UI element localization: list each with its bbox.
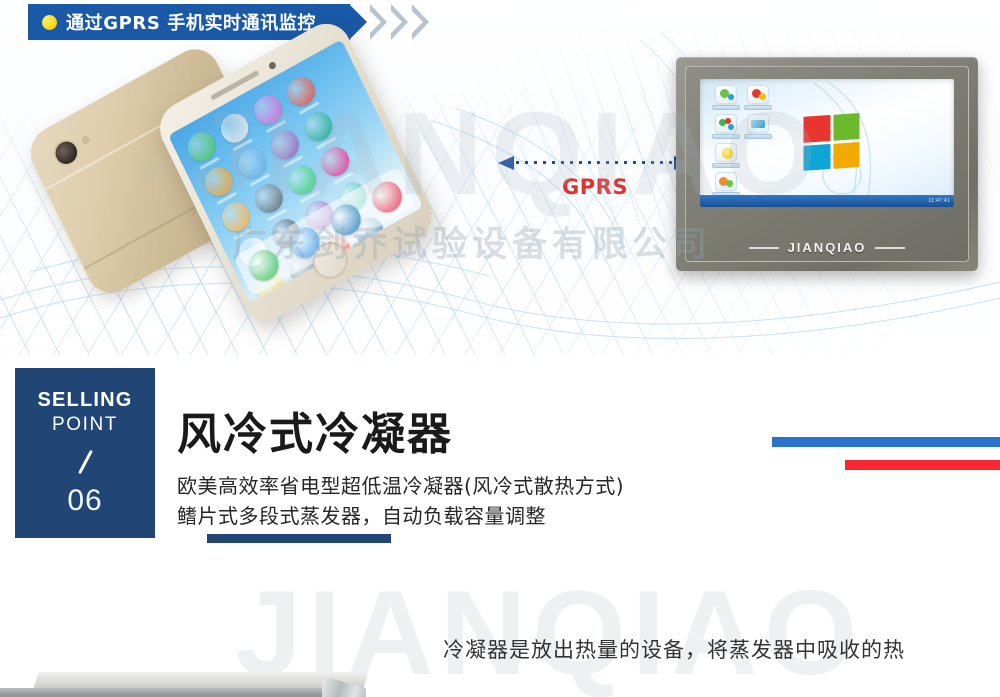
hmi-icon-4: [747, 114, 769, 133]
selling-label: SELLING: [37, 389, 132, 412]
hmi-clock: 11:47:41: [929, 198, 951, 204]
hmi-label-plate: [744, 105, 772, 110]
yellow-dot-icon: [42, 15, 57, 30]
hmi-app-6[interactable]: [711, 172, 741, 197]
condenser-unit-photo: [0, 672, 372, 697]
hmi-app-icons: [711, 85, 775, 201]
phone-app-icon-11[interactable]: [284, 161, 321, 200]
hmi-icon-1: [715, 85, 737, 104]
hmi-bezel: 11:47:41 JIANQIAO: [685, 66, 969, 262]
gprs-label: GPRS: [540, 175, 650, 199]
flash-icon: [80, 134, 91, 145]
hmi-icon-row: [711, 85, 775, 110]
dotted-connection-line: [516, 161, 672, 164]
header-banner-label: 通过GPRS 手机实时通讯监控: [66, 9, 316, 35]
header-banner: 通过GPRS 手机实时通讯监控: [28, 4, 433, 40]
hmi-taskbar: 11:47:41: [700, 195, 954, 207]
camera-icon: [49, 135, 83, 171]
windows-logo-icon: [803, 113, 859, 171]
phone-dock-icon-1[interactable]: [244, 245, 283, 287]
phone-app-icon-10[interactable]: [251, 179, 288, 218]
hmi-label-plate: [712, 163, 740, 168]
chevron-right-icon: [391, 4, 408, 40]
point-label: POINT: [52, 414, 118, 436]
product-detail-page: 通过GPRS 手机实时通讯监控 iPhone: [0, 0, 1000, 697]
phone-app-icon-2[interactable]: [216, 109, 253, 148]
unit-front-face: [0, 688, 330, 697]
phone-app-icon-4[interactable]: [283, 72, 320, 111]
hmi-icon-row: [711, 143, 775, 168]
hmi-app-3[interactable]: [711, 114, 741, 139]
front-camera-icon: [268, 61, 277, 71]
hmi-label-plate: [712, 134, 740, 139]
brand-divider-right: [875, 247, 905, 249]
hmi-icon-row: [711, 114, 775, 139]
title-underline-bar: [207, 534, 391, 543]
hmi-screen[interactable]: 11:47:41: [700, 79, 954, 207]
chevron-right-icon: [412, 4, 429, 40]
chevron-right-icon: [370, 4, 387, 40]
phone-app-icon-8[interactable]: [300, 107, 337, 146]
selling-point-badge: SELLING POINT 06: [15, 368, 155, 538]
phone-app-icon-3[interactable]: [250, 90, 287, 129]
hmi-touch-panel: 11:47:41 JIANQIAO: [676, 57, 978, 271]
phone-app-icon-9[interactable]: [217, 197, 254, 236]
brand-divider-left: [749, 247, 779, 249]
hmi-brand-row: JIANQIAO: [686, 240, 968, 255]
phone-app-icon-7[interactable]: [267, 126, 304, 165]
description-line-2: 鳍片式多段式蒸发器，自动负载容量调整: [177, 501, 624, 531]
phone-dock-icon-4[interactable]: [367, 176, 406, 218]
arrow-left-icon: [498, 156, 514, 170]
hmi-icon-3: [715, 114, 737, 133]
accent-bar-blue: [772, 437, 1000, 447]
hmi-app-1[interactable]: [711, 85, 741, 110]
unit-top-surface: [33, 672, 368, 689]
accent-bar-red: [845, 460, 1000, 470]
hmi-app-4[interactable]: [743, 114, 773, 139]
selling-point-number: 06: [67, 484, 102, 518]
section-title: 风冷式冷凝器: [177, 398, 453, 462]
hmi-app-5[interactable]: [711, 143, 741, 168]
phone-app-icon-1[interactable]: [183, 127, 220, 166]
phone-app-icon-6[interactable]: [233, 144, 270, 183]
phone-app-icon-22[interactable]: [302, 284, 339, 302]
phone-app-icon-24[interactable]: [368, 248, 405, 287]
section-description: 欧美高效率省电型超低温冷凝器(风冷式散热方式) 鳍片式多段式蒸发器，自动负载容量…: [177, 471, 624, 531]
top-illustration-section: 通过GPRS 手机实时通讯监控 iPhone: [0, 0, 1000, 355]
chevron-group: [370, 4, 433, 40]
hmi-icon-5: [715, 143, 737, 162]
phone-dock-icon-3[interactable]: [326, 199, 365, 241]
hmi-icon-2: [747, 85, 769, 104]
hmi-label-plate: [712, 105, 740, 110]
hmi-icon-6: [715, 172, 737, 191]
slash-divider-icon: [78, 449, 93, 473]
hmi-brand-label: JIANQIAO: [788, 240, 867, 255]
phone-app-icon-5[interactable]: [200, 162, 237, 201]
smartphone-illustration: iPhone: [42, 48, 422, 293]
hmi-app-2[interactable]: [743, 85, 773, 110]
bottom-description-text: 冷凝器是放出热量的设备，将蒸发器中吸收的热: [443, 634, 905, 664]
hmi-icon-row: [711, 172, 775, 197]
gprs-connection-indicator: [498, 155, 690, 169]
hmi-label-plate: [744, 134, 772, 139]
phone-app-icon-12[interactable]: [317, 142, 354, 181]
description-line-1: 欧美高效率省电型超低温冷凝器(风冷式散热方式): [177, 471, 624, 501]
